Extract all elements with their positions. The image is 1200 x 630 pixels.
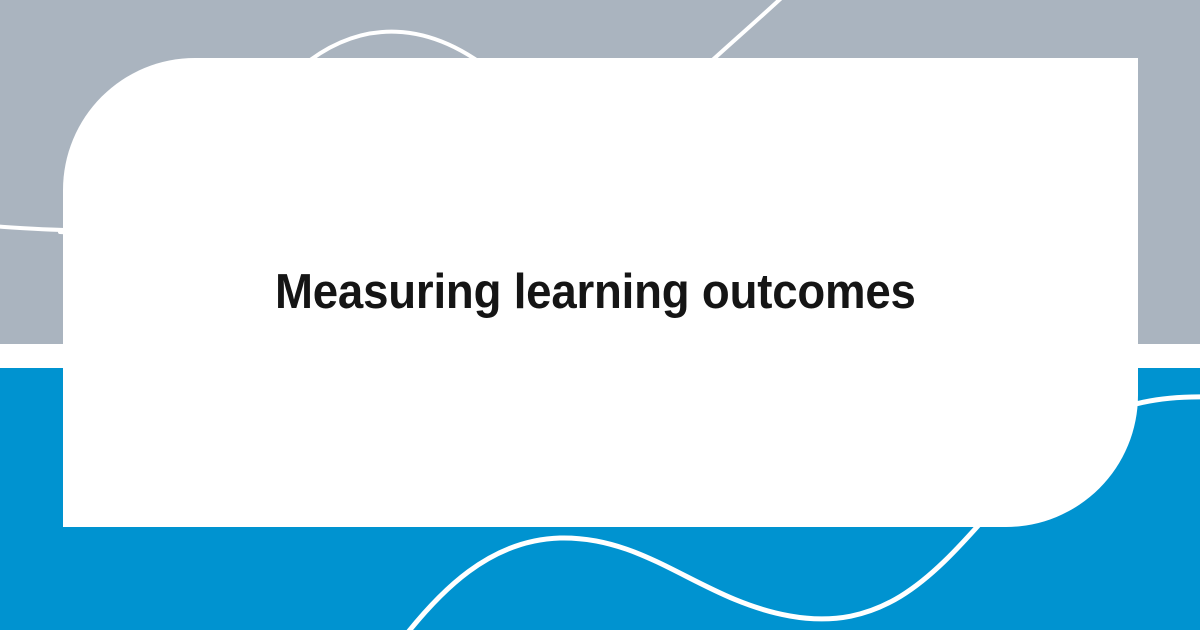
left-wave-line	[0, 226, 70, 230]
page-title: Measuring learning outcomes	[275, 265, 916, 320]
bottom-wave-line	[398, 518, 985, 630]
title-container: Measuring learning outcomes	[63, 58, 1138, 527]
social-card-canvas: Measuring learning outcomes	[0, 0, 1200, 630]
top-diagonal-line	[706, 0, 790, 66]
